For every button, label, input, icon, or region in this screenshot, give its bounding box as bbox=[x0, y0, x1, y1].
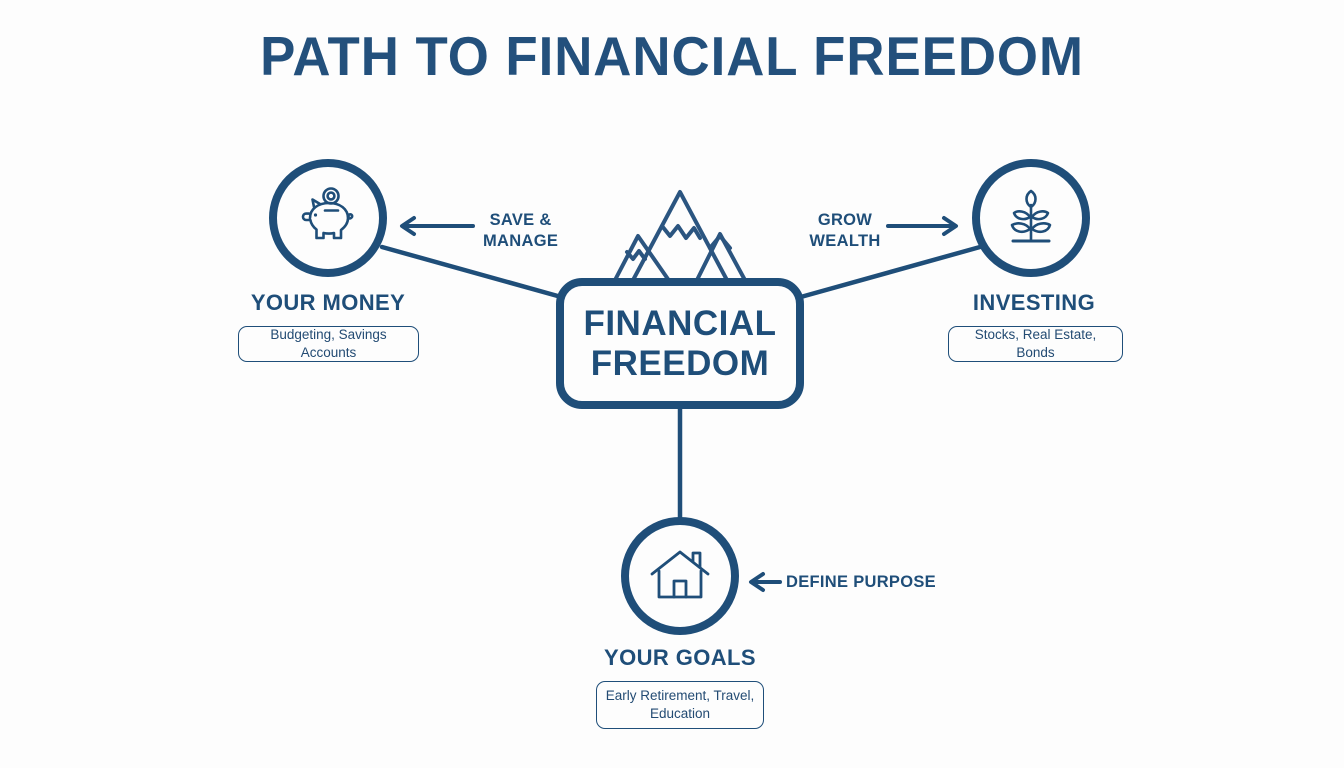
arrow-left-icon-save-manage bbox=[402, 218, 473, 234]
diagram-canvas: PATH TO FINANCIAL FREEDOM bbox=[0, 0, 1344, 768]
edge-label-grow-wealth-line2: WEALTH bbox=[806, 231, 884, 252]
node-investing[interactable] bbox=[972, 159, 1090, 277]
node-your-goals[interactable] bbox=[621, 517, 739, 635]
chip-investing: Stocks, Real Estate, Bonds bbox=[948, 326, 1123, 362]
chip-your-goals-line1: Early Retirement, Travel, bbox=[606, 687, 755, 705]
chip-your-goals: Early Retirement, Travel, Education bbox=[596, 681, 764, 729]
node-label-your-money: YOUR MONEY bbox=[168, 290, 488, 316]
center-label-line1: FINANCIAL bbox=[583, 304, 776, 344]
arrow-right-icon-grow-wealth bbox=[888, 218, 956, 234]
node-label-your-goals: YOUR GOALS bbox=[520, 645, 840, 671]
chip-your-goals-line2: Education bbox=[650, 705, 710, 723]
plant-growth-icon bbox=[1000, 187, 1062, 249]
edge-label-define-purpose: DEFINE PURPOSE bbox=[786, 572, 936, 593]
arrow-left-icon-define-purpose bbox=[751, 574, 780, 590]
center-label-line2: FREEDOM bbox=[591, 344, 770, 384]
node-label-investing: INVESTING bbox=[874, 290, 1194, 316]
piggy-bank-icon bbox=[296, 187, 360, 249]
edge-label-save-manage: SAVE & MANAGE bbox=[483, 210, 558, 252]
edge-label-save-manage-line2: MANAGE bbox=[483, 231, 558, 252]
node-your-money[interactable] bbox=[269, 159, 387, 277]
edge-label-grow-wealth-line1: GROW bbox=[806, 210, 884, 231]
house-icon bbox=[648, 547, 712, 605]
chip-your-money: Budgeting, Savings Accounts bbox=[238, 326, 419, 362]
edge-label-save-manage-line1: SAVE & bbox=[483, 210, 558, 231]
financial-freedom-node[interactable]: FINANCIAL FREEDOM bbox=[556, 278, 804, 409]
edge-label-grow-wealth: GROW WEALTH bbox=[806, 210, 884, 252]
